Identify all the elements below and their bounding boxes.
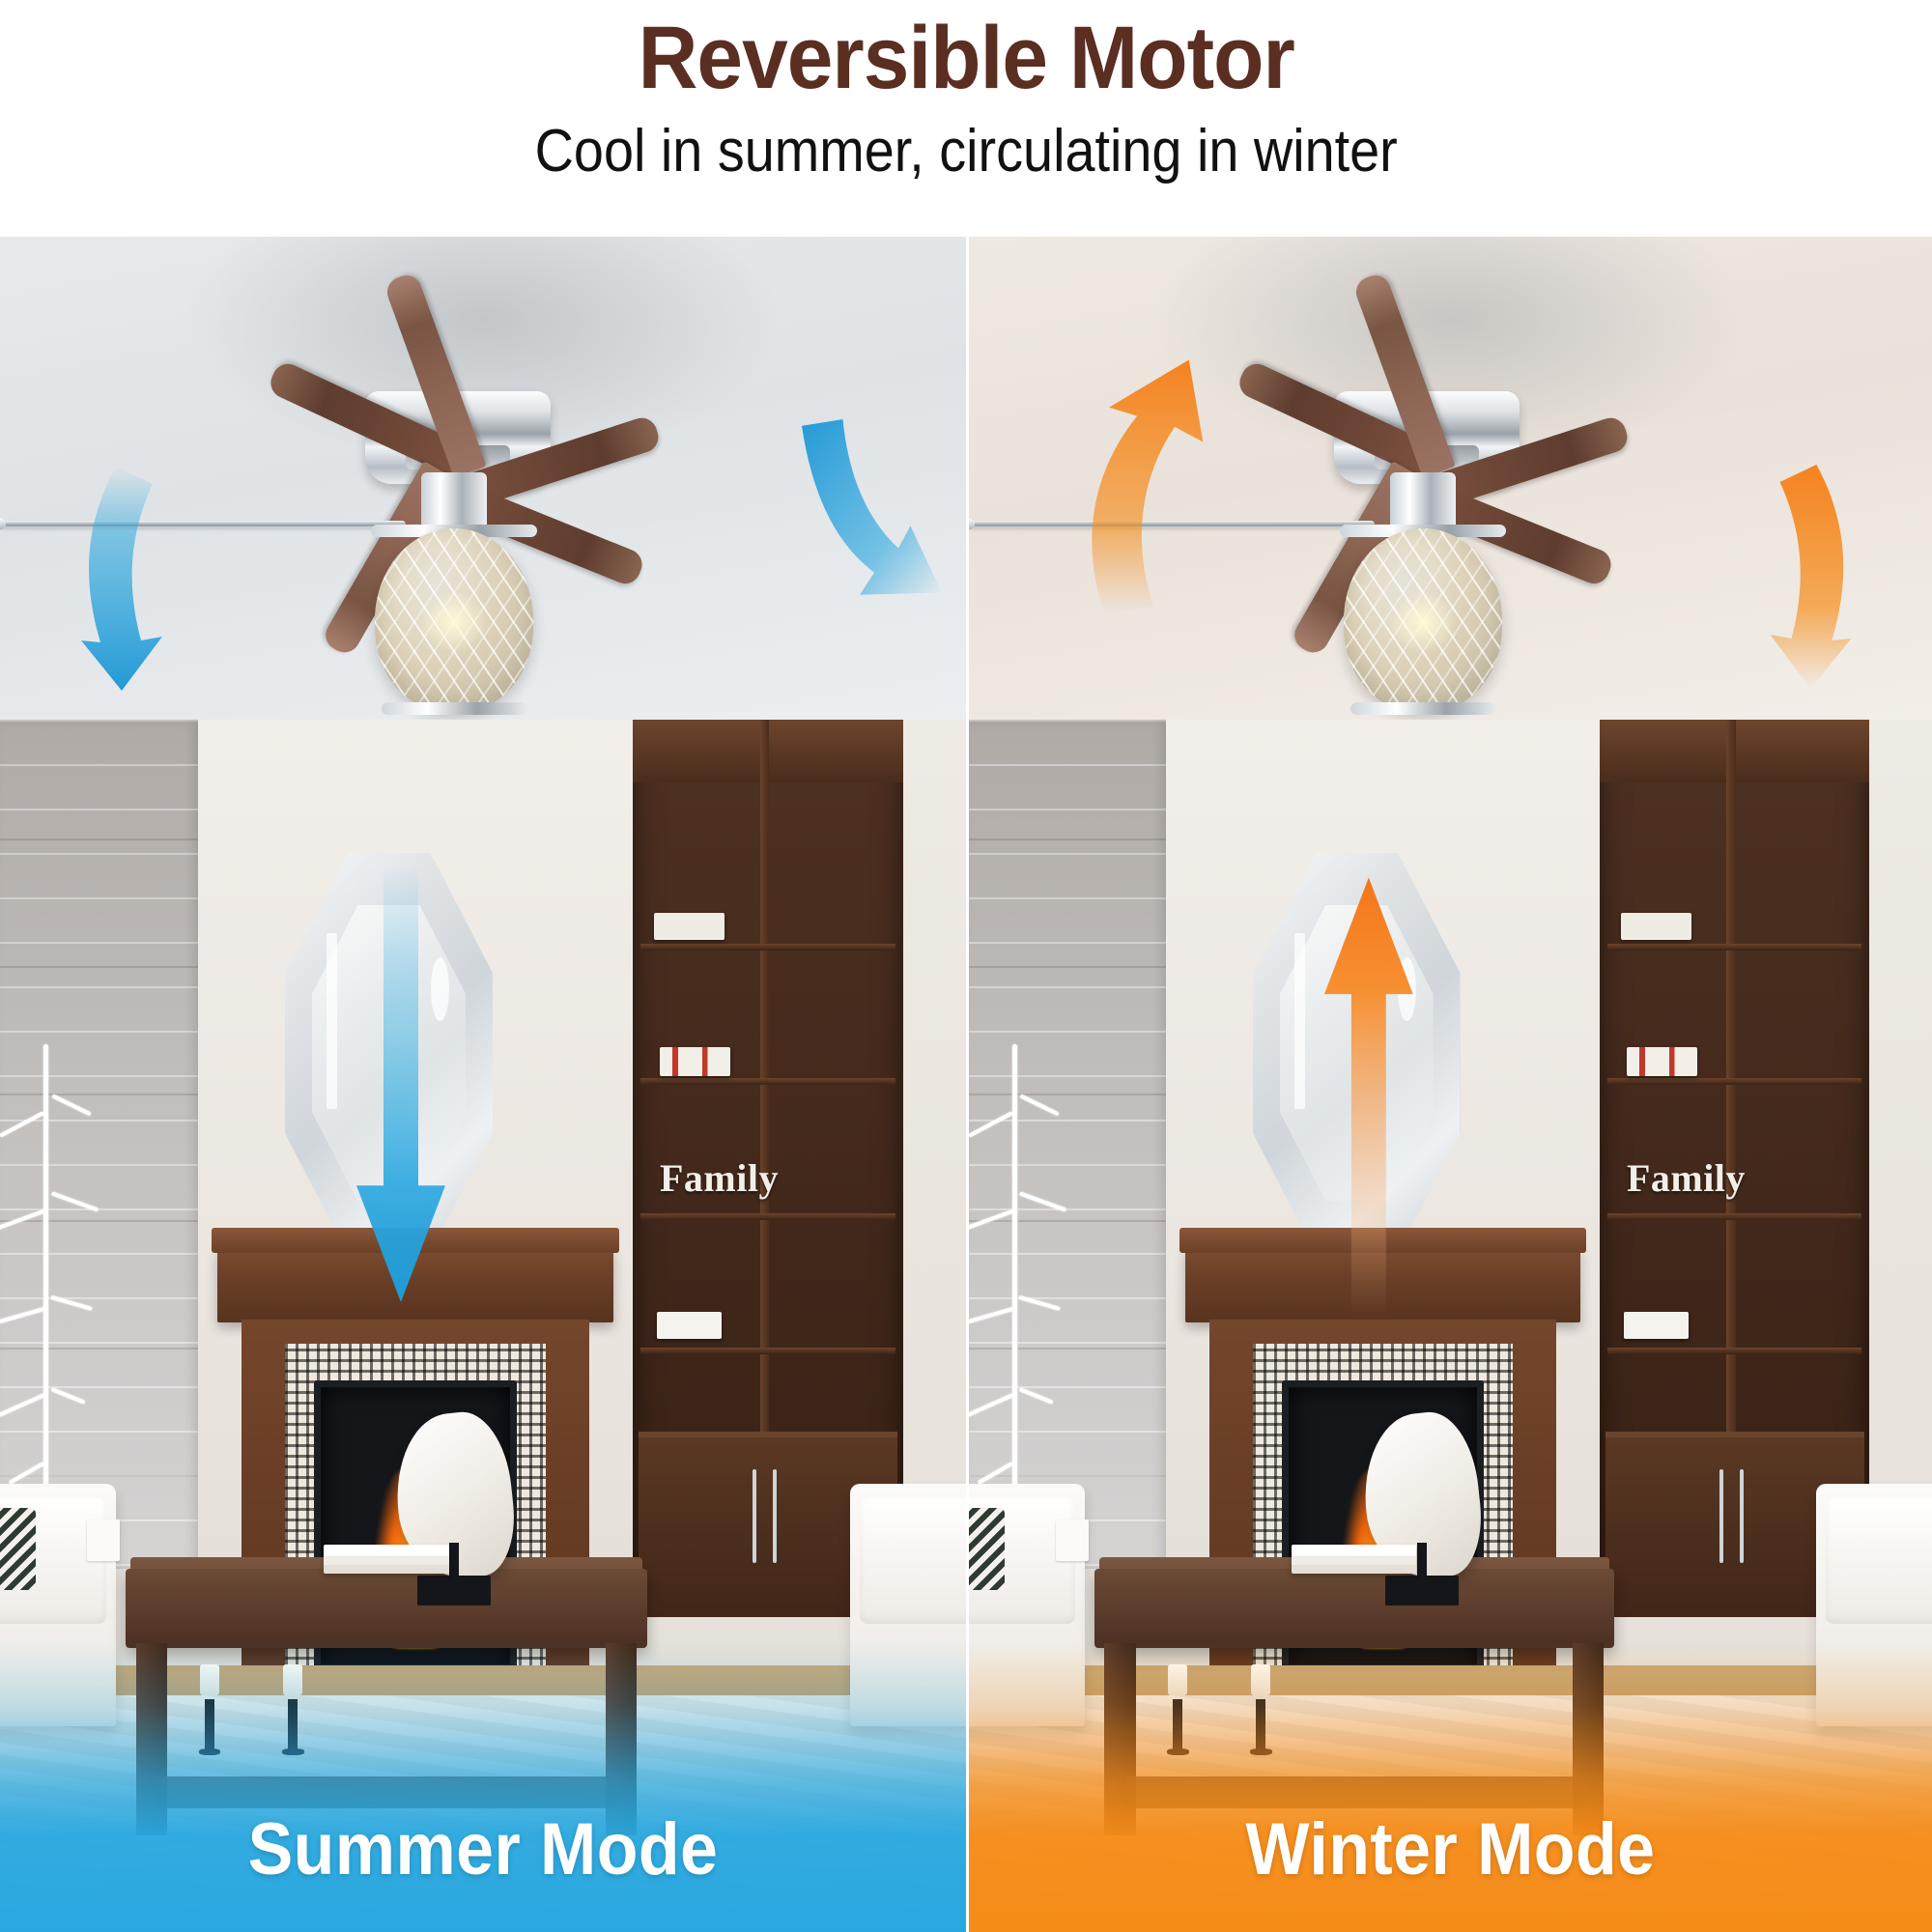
candlestick [1167,1664,1189,1755]
airflow-curve-arrow-right [802,419,942,595]
panel-summer: Family [0,237,966,1932]
candlestick [282,1664,304,1755]
room-photo-winter: Family [969,720,1932,1932]
family-sign-text: Family [1627,1155,1746,1201]
wall-outlet [87,1520,120,1561]
mode-label-summer: Summer Mode [39,1807,927,1891]
coffee-table [1094,1569,1614,1835]
fireplace-mantel [217,1247,613,1322]
striped-pillow [969,1508,1005,1590]
airflow-curve-arrow-right [1771,465,1852,689]
pull-chain-rod [0,521,406,527]
candlestick [199,1664,221,1755]
candlestick [1250,1664,1272,1755]
airflow-curve-arrow-left [1092,359,1203,612]
header: Reversible Motor Cool in summer, circula… [0,0,1932,237]
family-sign: Family [660,1154,811,1201]
accent-chair-right [850,1484,966,1726]
airflow-curve-arrow-left [81,467,162,691]
built-in-bookcase: Family [633,720,903,1617]
coffee-table [126,1569,647,1835]
fireplace-mantel [1185,1247,1580,1322]
panel-winter: Family [966,237,1932,1932]
crystal-light-globe [1344,528,1502,712]
octagonal-mirror [1253,853,1460,1253]
coral-branch-wall-art [0,1035,135,1520]
stacked-books [1292,1545,1416,1574]
accent-chair-right [1816,1484,1932,1726]
family-sign: Family [1627,1154,1777,1201]
room-photo-summer: Family [0,720,966,1932]
infographic-page: Reversible Motor Cool in summer, circula… [0,0,1932,1932]
globe-collar-bottom [1350,702,1495,715]
built-in-bookcase: Family [1600,720,1869,1617]
striped-pillow [0,1508,36,1590]
mode-label-winter: Winter Mode [1008,1807,1893,1891]
ceiling-photo-winter [969,237,1932,720]
pull-chain-rod [969,521,1375,527]
family-sign-text: Family [660,1155,779,1201]
comparison-panels: Family [0,237,1932,1932]
coral-branch-wall-art [969,1035,1104,1520]
globe-collar-bottom [382,702,526,715]
wall-outlet [1056,1520,1089,1561]
page-subtitle: Cool in summer, circulating in winter [534,120,1397,183]
ceiling-photo-summer [0,237,966,720]
crystal-light-globe [375,528,533,712]
stacked-books [324,1545,449,1574]
octagonal-mirror [285,853,493,1253]
page-title: Reversible Motor [638,14,1293,104]
